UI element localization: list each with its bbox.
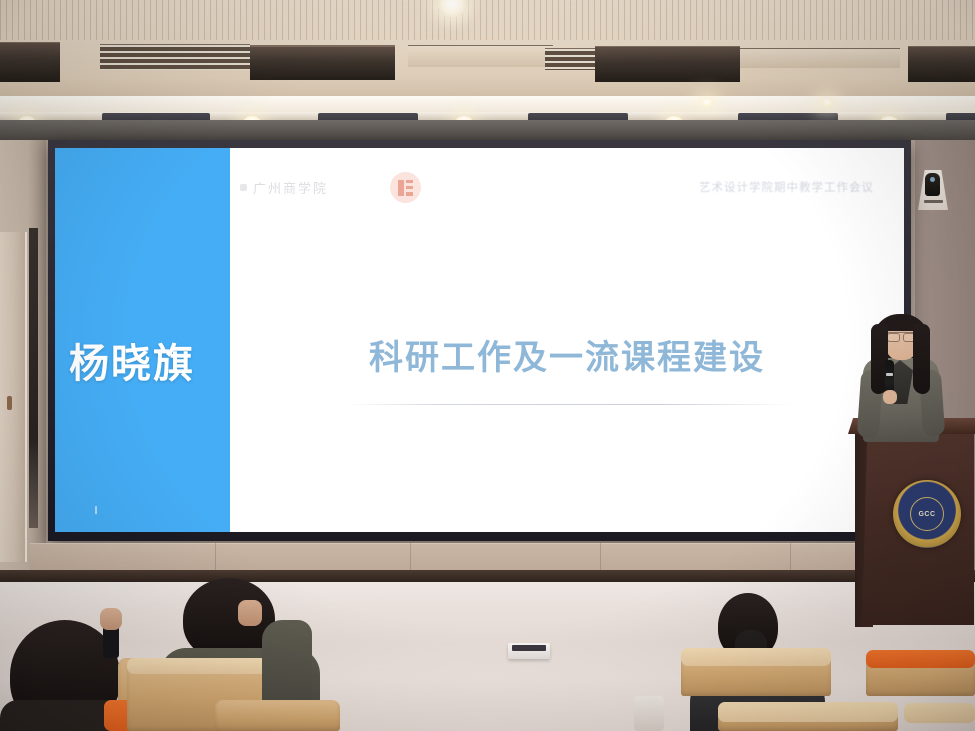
emblem-center-label: GCC (918, 511, 935, 518)
ceiling-spotlight (820, 98, 834, 107)
ceiling-spotlight (700, 98, 714, 107)
slide-title: 科研工作及一流课程建设 (230, 330, 904, 379)
audience-chair-cushion (127, 658, 275, 674)
slide-header-left: 广州商学院 (240, 178, 328, 197)
audience-chair-cushion (904, 703, 975, 723)
camera-icon (925, 173, 940, 196)
ceiling-vent (740, 48, 900, 68)
emblem-shield: GCC (910, 497, 944, 531)
presenter-hand (883, 390, 897, 404)
audience-chair (215, 700, 340, 731)
left-door-panel[interactable] (0, 232, 27, 562)
audience-chair-cushion (866, 650, 975, 668)
audience-chair-cushion (681, 648, 831, 666)
door-handle-icon[interactable] (7, 396, 12, 410)
ceiling-vent (408, 45, 553, 67)
projection-screen-frame: 杨晓旗 广州商学院 艺术设计学院期中教学工作会议 科研工作及一流课程建设 (48, 140, 911, 541)
ceiling-vent (0, 42, 60, 82)
slide-divider (345, 404, 794, 405)
slide-header-left-label: 广州商学院 (253, 178, 328, 197)
university-seal-icon (390, 172, 421, 203)
floor-outlet-box (508, 643, 550, 659)
audience-hand (100, 608, 122, 630)
ceiling-vent (545, 48, 595, 70)
slide-speaker-name: 杨晓旗 (69, 331, 230, 389)
ceiling-vent (595, 46, 740, 82)
ceiling-vent (250, 46, 395, 80)
audience-hand (238, 600, 262, 626)
slide-header-right-label: 艺术设计学院期中教学工作会议 (699, 179, 874, 195)
college-emblem: GCC (893, 480, 961, 548)
left-wall-recess (29, 228, 38, 528)
audience-chair-cushion (718, 702, 898, 722)
lecture-hall-scene: 杨晓旗 广州商学院 艺术设计学院期中教学工作会议 科研工作及一流课程建设 (0, 0, 975, 731)
camera-vent-slot (924, 200, 943, 203)
ceiling-vent (908, 46, 975, 82)
slide-header: 广州商学院 艺术设计学院期中教学工作会议 (240, 174, 886, 204)
presenter-hair-right (913, 324, 930, 394)
slide-accent-tick (95, 506, 97, 514)
glasses-icon (887, 332, 916, 339)
university-mark-icon (240, 184, 247, 191)
presenter (855, 312, 945, 442)
seal-glyph (398, 180, 413, 196)
floor-sheen (0, 582, 975, 642)
presentation-slide[interactable]: 杨晓旗 广州商学院 艺术设计学院期中教学工作会议 科研工作及一流课程建设 (55, 148, 904, 532)
audience-armrest (634, 696, 664, 731)
ceiling-vent (100, 44, 250, 70)
